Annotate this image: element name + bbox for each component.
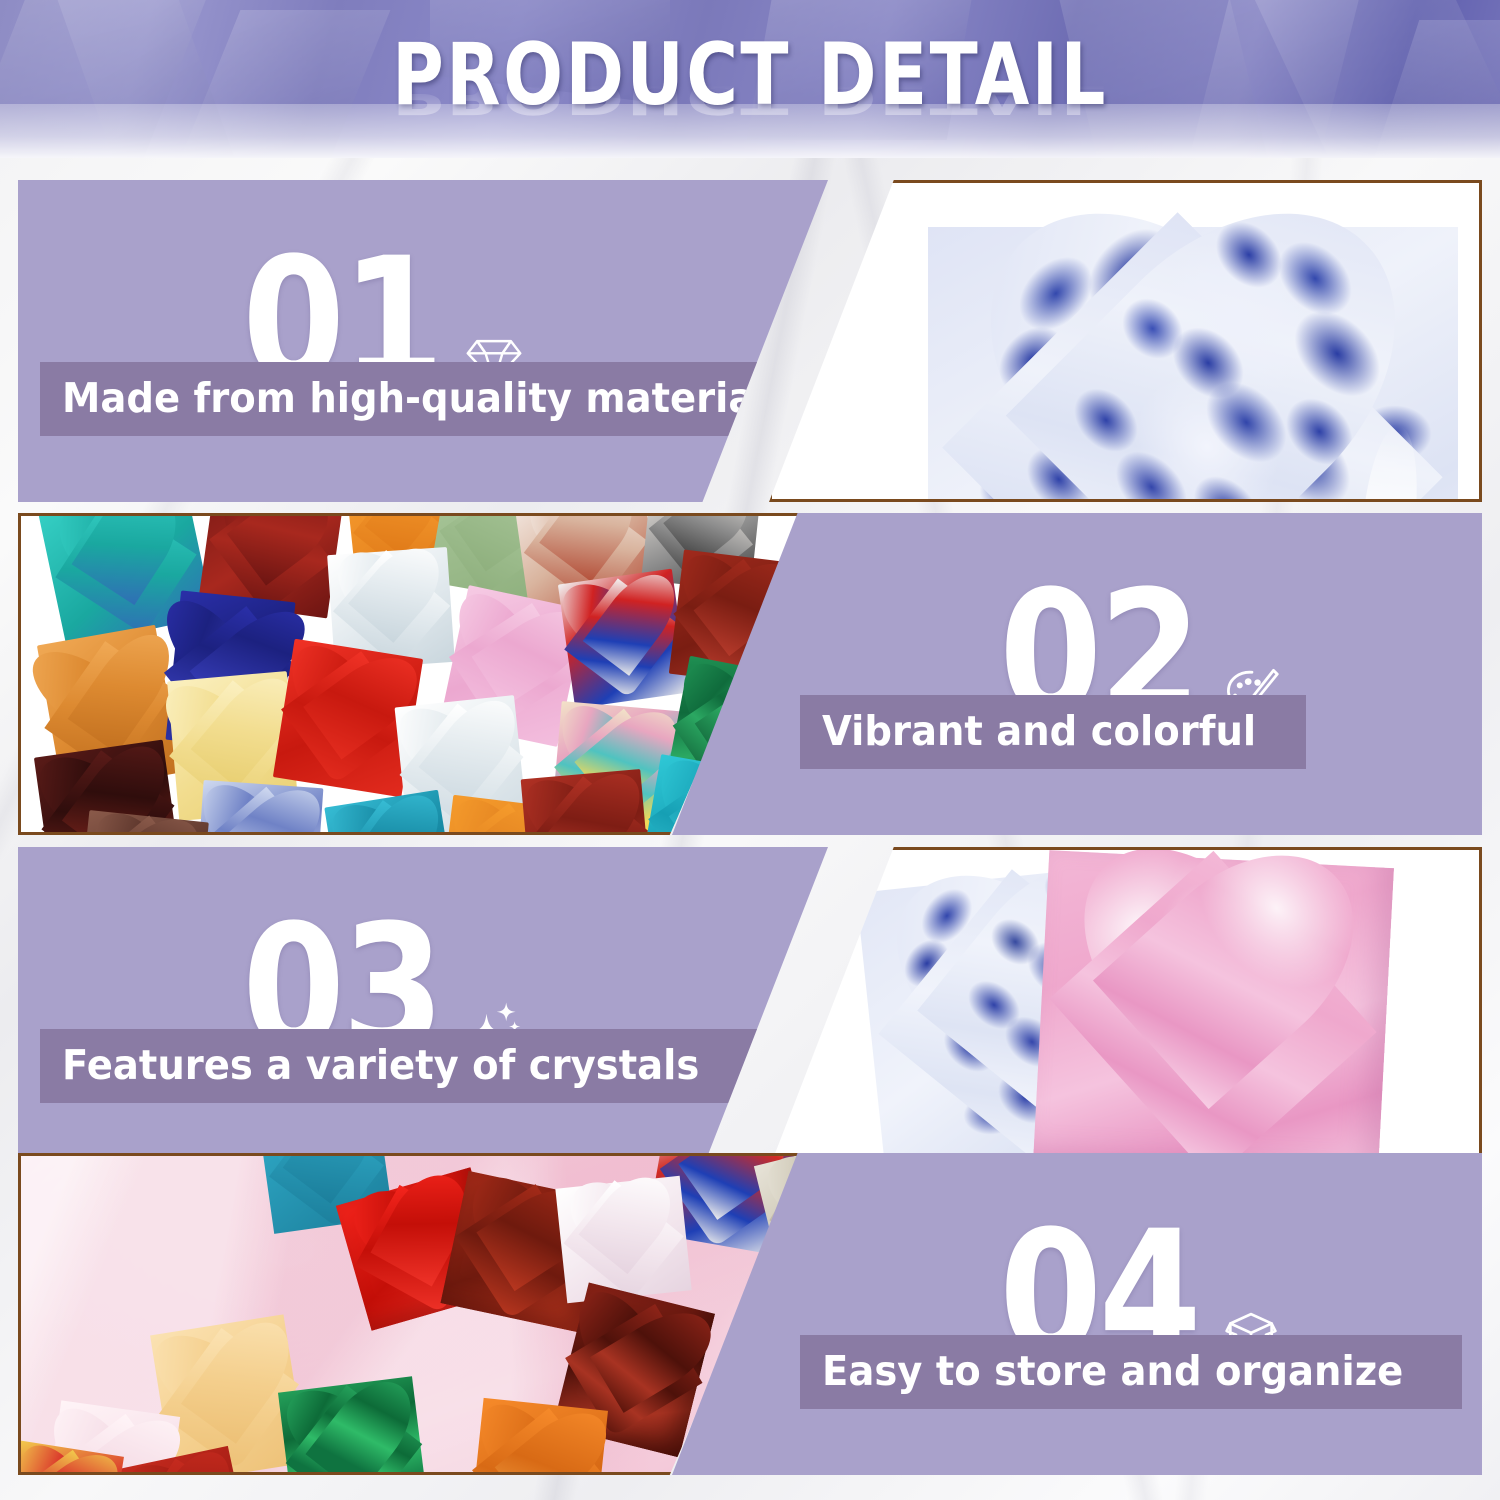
rose-quartz-heart-shape: [1033, 851, 1394, 1169]
feature-label-bar-01: Made from high-quality materials: [40, 362, 828, 436]
feature-photo-03: [769, 847, 1482, 1169]
sodalite-heart-photo: [772, 183, 1479, 499]
product-detail-infographic: PRODUCT DETAIL PRODUCT DETAIL 01: [0, 0, 1500, 1500]
header-banner: PRODUCT DETAIL PRODUCT DETAIL: [0, 0, 1500, 158]
feature-label-bar-04: Easy to store and organize: [800, 1335, 1462, 1409]
feature-label-04: Easy to store and organize: [822, 1349, 1403, 1393]
feature-row-3: 03 Features a variety of crystals: [18, 847, 1482, 1169]
colorful-hearts-photo: [21, 516, 805, 832]
feature-photo-01: [769, 180, 1482, 502]
feature-row-2: 02 Vibrant and colorful: [18, 513, 1482, 835]
two-hearts-photo: [772, 850, 1479, 1166]
feature-photo-02: [18, 513, 808, 835]
page-title: PRODUCT DETAIL: [135, 36, 1365, 114]
feature-text-panel-04: 04 Easy to store and organize: [672, 1153, 1482, 1475]
feature-label-bar-02: Vibrant and colorful: [800, 695, 1306, 769]
hearts-on-satin-photo: [21, 1156, 805, 1472]
feature-label-01: Made from high-quality materials: [62, 376, 791, 420]
feature-text-panel-01: 01 Made from high-quality materials: [18, 180, 828, 502]
sodalite-heart-shape: [928, 227, 1458, 502]
feature-row-1: 01 Made from high-quality materials: [18, 180, 1482, 502]
feature-text-panel-03: 03 Features a variety of crystals: [18, 847, 828, 1169]
feature-photo-04: [18, 1153, 808, 1475]
feature-text-panel-02: 02 Vibrant and colorful: [672, 513, 1482, 835]
feature-label-bar-03: Features a variety of crystals: [40, 1029, 762, 1103]
feature-row-4: 04 Easy to store and organize: [18, 1153, 1482, 1475]
feature-label-03: Features a variety of crystals: [62, 1043, 699, 1087]
feature-label-02: Vibrant and colorful: [822, 709, 1256, 753]
